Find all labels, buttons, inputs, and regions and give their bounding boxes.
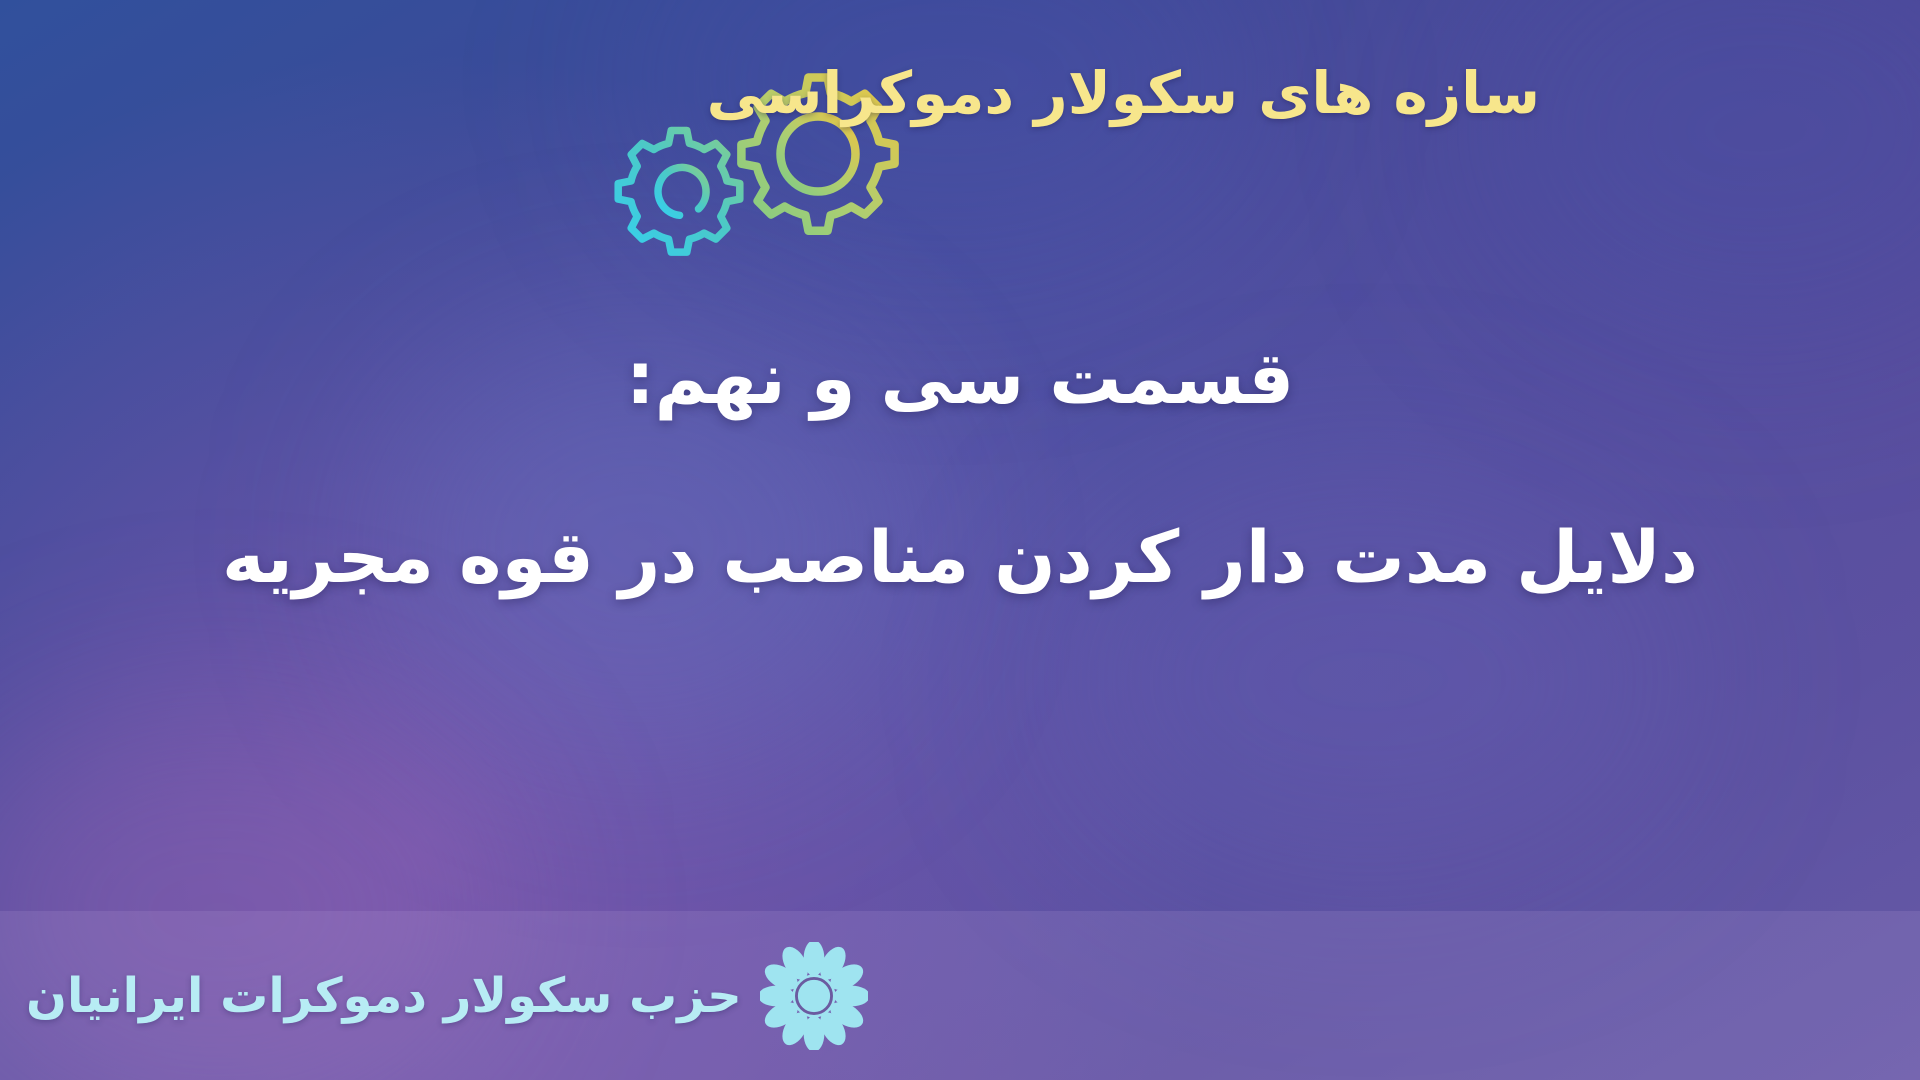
- small-gear-icon: [618, 131, 740, 253]
- footer-branding: حزب سکولار دموکرات ایرانیان: [0, 942, 868, 1050]
- daisy-flower-logo-icon: [760, 942, 868, 1050]
- title-slide: سازه های سکولار دموکراسی قسمت سی و نهم: …: [0, 0, 1920, 1080]
- organization-name: حزب سکولار دموکرات ایرانیان: [26, 972, 742, 1020]
- program-title: سازه های سکولار دموکراسی: [707, 62, 1540, 126]
- episode-label: قسمت سی و نهم:: [120, 330, 1800, 427]
- headline-block: قسمت سی و نهم: دلایل مدت دار کردن مناصب …: [0, 330, 1920, 606]
- footer-bar: حزب سکولار دموکرات ایرانیان: [0, 911, 1920, 1080]
- background-blotch: [1480, 0, 1920, 340]
- episode-subject: دلایل مدت دار کردن مناصب در قوه مجریه: [120, 509, 1800, 606]
